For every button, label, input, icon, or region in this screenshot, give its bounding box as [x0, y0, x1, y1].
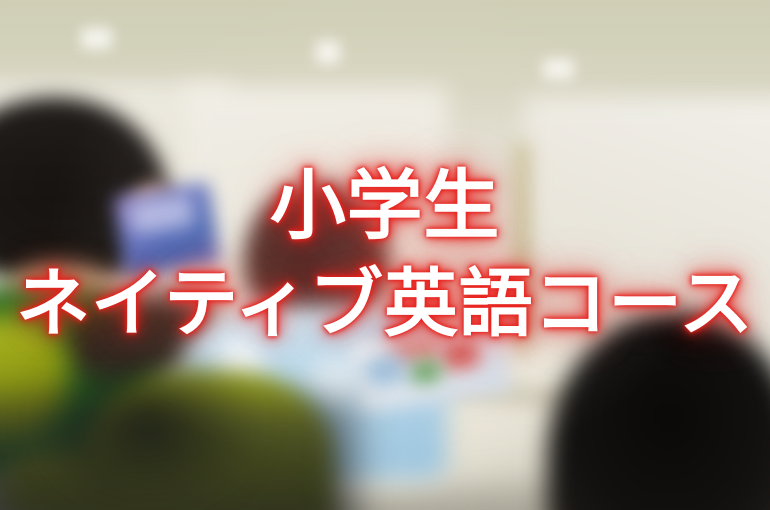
course-banner: 小学生 ネイティブ英語コース	[0, 0, 770, 510]
photo-haze-overlay	[0, 0, 770, 510]
background-photo	[0, 0, 770, 510]
